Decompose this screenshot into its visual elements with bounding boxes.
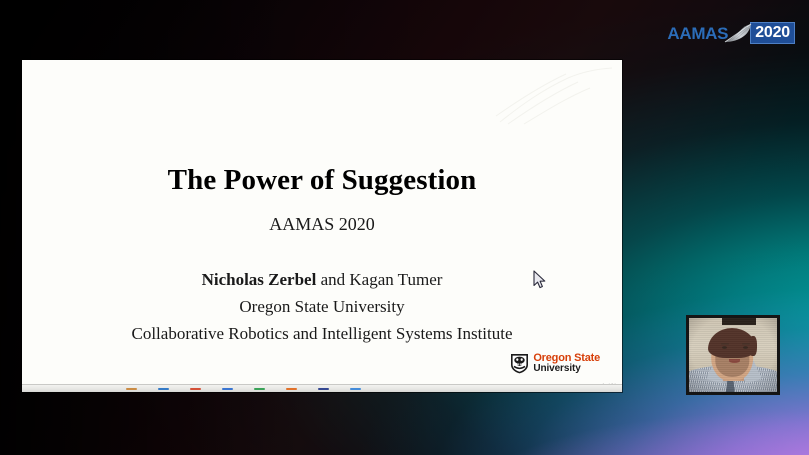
osu-logo-line2: University	[533, 364, 600, 374]
taskbar-item[interactable]	[286, 388, 297, 390]
taskbar-item[interactable]	[126, 388, 137, 390]
webcam-video-frame	[689, 318, 777, 392]
quill-feather-icon	[723, 22, 753, 44]
aamas-logo-word: AAMAS	[667, 25, 728, 42]
taskbar-item[interactable]	[190, 388, 201, 390]
presenter-webcam-tile[interactable]	[686, 315, 780, 395]
aamas-conference-logo: AAMAS 2020	[667, 22, 795, 44]
slide-affiliation-institute: Collaborative Robotics and Intelligent S…	[131, 325, 512, 342]
slide-authors: Nicholas Zerbel and Kagan Tumer	[202, 271, 443, 288]
shared-slide[interactable]: The Power of Suggestion AAMAS 2020 Nicho…	[22, 60, 622, 392]
beaver-shield-icon	[510, 353, 529, 374]
webcam-vignette	[689, 318, 777, 392]
slide-content: The Power of Suggestion AAMAS 2020 Nicho…	[22, 60, 622, 392]
osu-logo-text: Oregon State University	[533, 353, 600, 374]
taskbar-item[interactable]	[158, 388, 169, 390]
presenter-taskbar-sliver	[22, 384, 622, 392]
taskbar-item[interactable]	[254, 388, 265, 390]
taskbar-item[interactable]	[318, 388, 329, 390]
slide-title: The Power of Suggestion	[168, 166, 477, 195]
presentation-stage: AAMAS 2020	[0, 0, 809, 455]
oregon-state-university-logo: Oregon State University	[510, 353, 600, 374]
slide-affiliation-university: Oregon State University	[239, 298, 404, 315]
presenter-name: Nicholas Zerbel	[202, 270, 317, 289]
coauthor-name: and Kagan Tumer	[316, 270, 442, 289]
taskbar-item[interactable]	[222, 388, 233, 390]
aamas-logo-year: 2020	[750, 22, 795, 44]
taskbar-item[interactable]	[350, 388, 361, 390]
slide-subtitle: AAMAS 2020	[269, 215, 375, 233]
